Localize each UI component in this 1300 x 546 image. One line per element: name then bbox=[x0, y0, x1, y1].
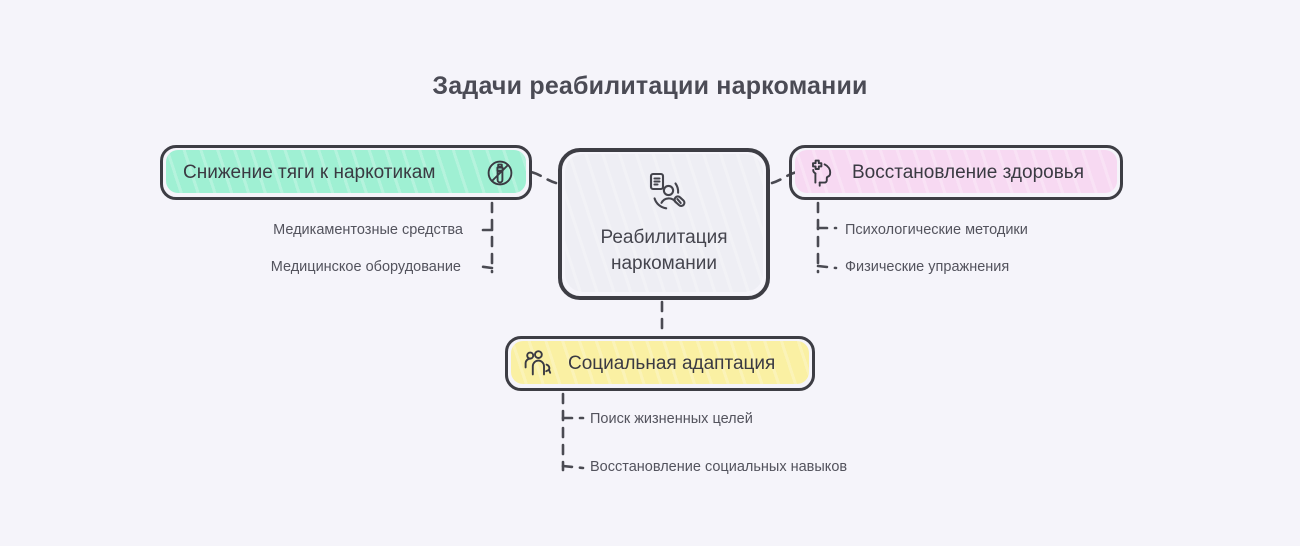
branch-node-right[interactable]: Восстановление здоровья bbox=[789, 145, 1123, 200]
sub-item-bottom-2: Восстановление социальных навыков bbox=[590, 459, 847, 475]
person-document-pill-icon bbox=[640, 171, 688, 215]
people-group-arrow-icon bbox=[522, 348, 556, 380]
branch-node-bottom-label: Социальная адаптация bbox=[568, 353, 775, 375]
branch-node-bottom[interactable]: Социальная адаптация bbox=[505, 336, 815, 391]
branch-node-left-label: Снижение тяги к наркотикам bbox=[183, 162, 435, 184]
sub-item-right-2: Физические упражнения bbox=[845, 259, 1009, 275]
page-title: Задачи реабилитации наркомании bbox=[0, 72, 1300, 101]
connector-left-child-2 bbox=[477, 266, 492, 268]
head-medical-cross-icon bbox=[806, 157, 838, 189]
branch-node-left[interactable]: Снижение тяги к наркотикам bbox=[160, 145, 532, 200]
sub-item-right-1: Психологические методики bbox=[845, 222, 1028, 238]
sub-item-left-1: Медикаментозные средства bbox=[273, 222, 463, 238]
connector-bottom-child-2 bbox=[563, 466, 583, 468]
connector-center-left bbox=[531, 172, 556, 183]
sub-item-bottom-1: Поиск жизненных целей bbox=[590, 411, 753, 427]
center-node[interactable]: Реабилитация наркомании bbox=[558, 148, 770, 300]
connector-right-child-2 bbox=[818, 266, 836, 268]
sub-item-left-2: Медицинское оборудование bbox=[271, 259, 461, 275]
center-node-label: Реабилитация наркомании bbox=[600, 225, 727, 276]
no-drugs-icon bbox=[485, 158, 515, 188]
branch-node-right-label: Восстановление здоровья bbox=[852, 162, 1084, 184]
mindmap-canvas: Задачи реабилитации наркомании Реабилита… bbox=[0, 0, 1300, 546]
